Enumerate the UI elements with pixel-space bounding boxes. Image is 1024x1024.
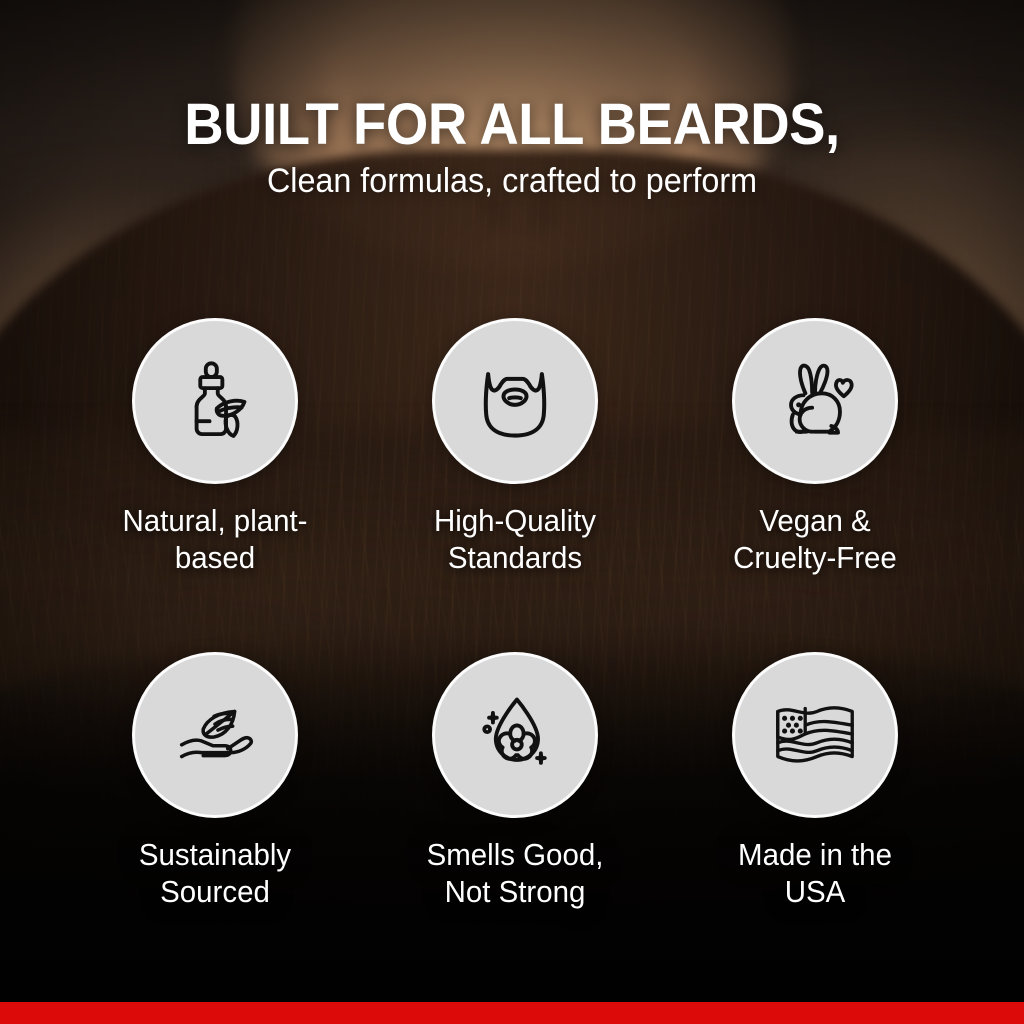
droplet-flower-sparkle-icon bbox=[467, 687, 563, 783]
feature-item-made-in-usa: Made in the USA bbox=[665, 652, 965, 910]
poster-content: BUILT FOR ALL BEARDS, Clean formulas, cr… bbox=[0, 0, 1024, 1024]
brand-accent-bar bbox=[0, 1002, 1024, 1024]
feature-item-vegan-cruelty-free: Vegan & Cruelty-Free bbox=[665, 318, 965, 576]
feature-badge bbox=[732, 318, 898, 484]
feature-badge bbox=[132, 318, 298, 484]
feature-label: Smells Good, Not Strong bbox=[373, 837, 658, 910]
rabbit-heart-icon bbox=[767, 353, 863, 449]
feature-label: Made in the USA bbox=[673, 837, 958, 910]
usa-flag-icon bbox=[766, 686, 864, 784]
feature-label: Sustainably Sourced bbox=[73, 837, 358, 910]
feature-grid: Natural, plant- based High-Quality Stan bbox=[0, 318, 1024, 986]
subheadline: Clean formulas, crafted to perform bbox=[26, 163, 999, 200]
feature-item-sustainably-sourced: Sustainably Sourced bbox=[65, 652, 365, 910]
feature-badge bbox=[732, 652, 898, 818]
dropper-bottle-leaves-icon bbox=[169, 355, 261, 447]
feature-badge bbox=[432, 652, 598, 818]
feature-label: Vegan & Cruelty-Free bbox=[673, 503, 958, 576]
feature-item-high-quality-standards: High-Quality Standards bbox=[365, 318, 665, 576]
feature-label: High-Quality Standards bbox=[373, 503, 658, 576]
headline: BUILT FOR ALL BEARDS, bbox=[31, 96, 994, 154]
feature-row-2: Sustainably Sourced bbox=[0, 652, 1024, 986]
feature-item-natural-plant-based: Natural, plant- based bbox=[65, 318, 365, 576]
feature-badge bbox=[132, 652, 298, 818]
feature-badge bbox=[432, 318, 598, 484]
promo-poster: BUILT FOR ALL BEARDS, Clean formulas, cr… bbox=[0, 0, 1024, 1024]
feature-row-1: Natural, plant- based High-Quality Stan bbox=[0, 318, 1024, 652]
hand-holding-leaf-icon bbox=[166, 686, 264, 784]
beard-outline-icon bbox=[467, 353, 563, 449]
feature-item-smells-good-not-strong: Smells Good, Not Strong bbox=[365, 652, 665, 910]
feature-label: Natural, plant- based bbox=[73, 503, 358, 576]
